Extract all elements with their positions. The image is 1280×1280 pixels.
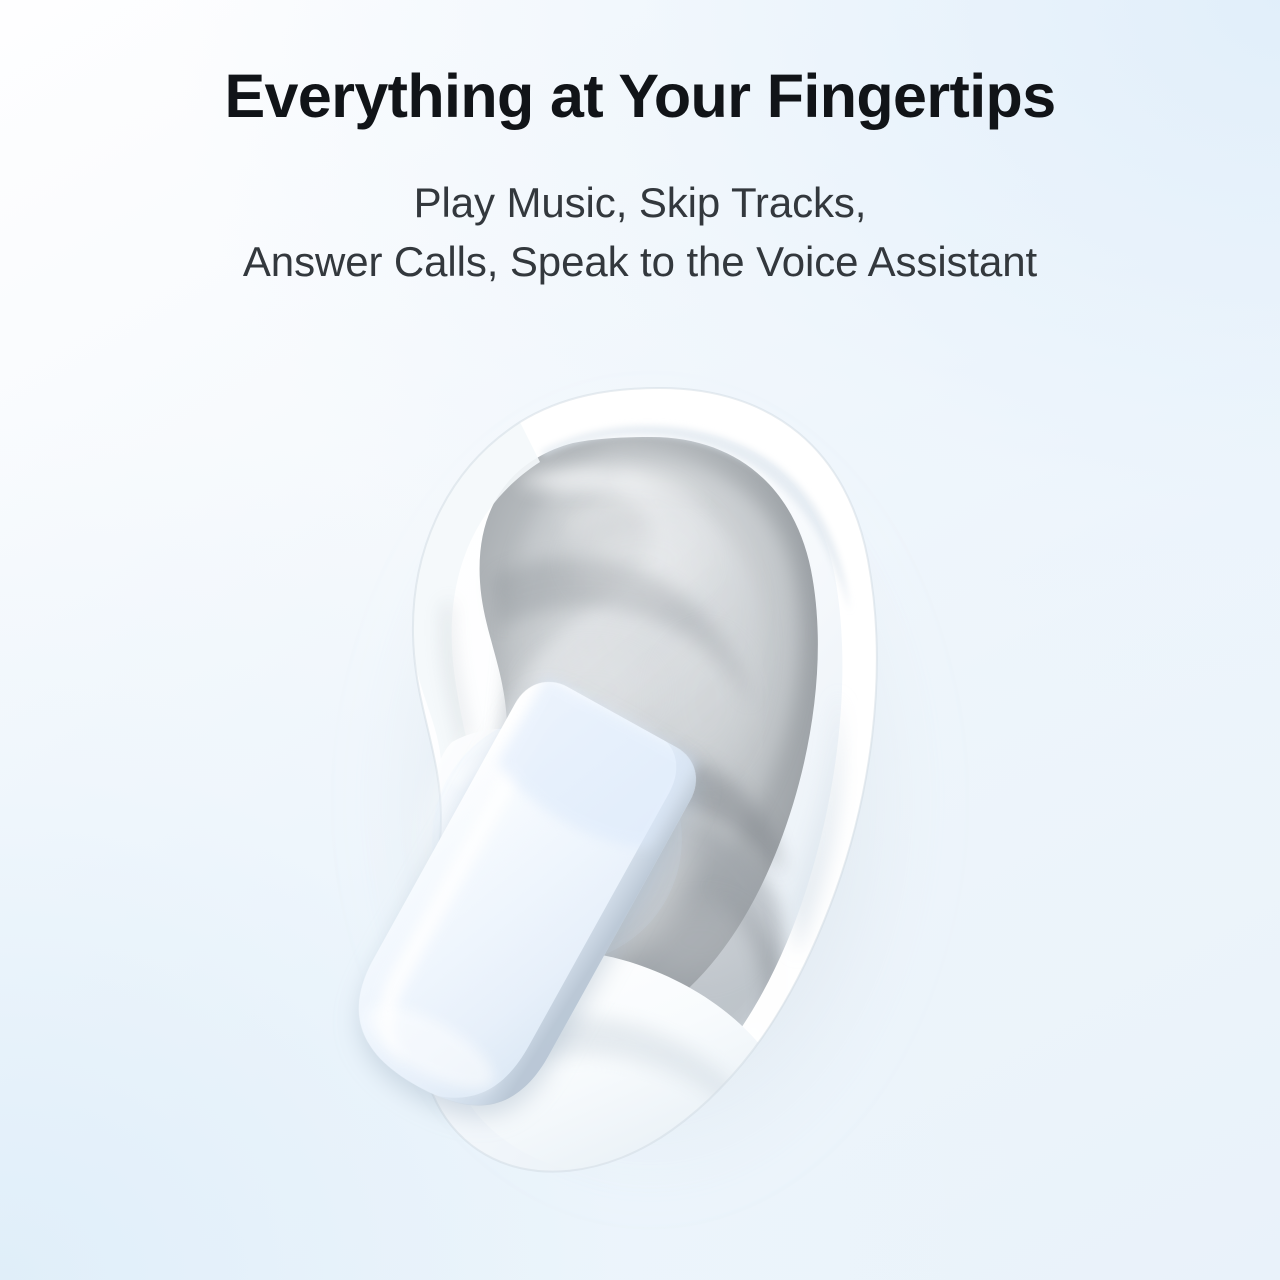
subtitle-line-1: Play Music, Skip Tracks,	[0, 174, 1280, 233]
subtitle-line-2: Answer Calls, Speak to the Voice Assista…	[0, 233, 1280, 292]
hero-banner: Everything at Your Fingertips Play Music…	[0, 0, 1280, 1280]
hero-text-block: Everything at Your Fingertips Play Music…	[0, 0, 1280, 291]
page-subtitle: Play Music, Skip Tracks, Answer Calls, S…	[0, 130, 1280, 292]
page-title: Everything at Your Fingertips	[0, 0, 1280, 130]
